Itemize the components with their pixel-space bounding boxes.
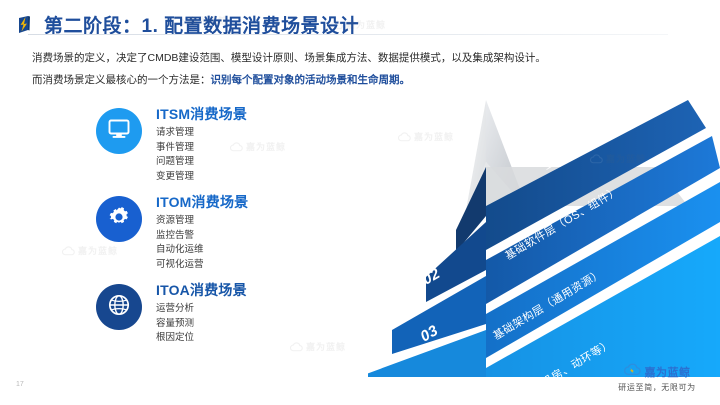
scenario-item: 变更管理 [156,170,247,185]
monitor-icon [107,118,131,145]
scenario-item: 资源管理 [156,214,248,229]
scenario-icon-circle-itoa [96,284,142,330]
scenario-title-itsm: ITSM消费场景 [156,104,247,124]
gear-icon [107,205,131,234]
scenario-block-itom: ITOM消费场景 资源管理 监控告警 自动化运维 可视化运营 [96,192,366,280]
scenario-item: 问题管理 [156,155,247,170]
scenario-item: 请求管理 [156,126,247,141]
scenario-block-itoa: ITOA消费场景 运营分析 容量预测 根因定位 [96,280,366,360]
scenario-text-itoa: ITOA消费场景 运营分析 容量预测 根因定位 [156,280,247,346]
scenario-text-itsm: ITSM消费场景 请求管理 事件管理 问题管理 变更管理 [156,104,247,184]
scenario-list: ITSM消费场景 请求管理 事件管理 问题管理 变更管理 ITOM消费场景 资源… [96,104,366,360]
footer-brand-name: 嘉为蓝鲸 [645,364,691,380]
globe-icon [107,293,131,322]
scenario-icon-circle-itom [96,196,142,242]
scenario-item: 可视化运营 [156,258,248,273]
scenario-icon-circle-itsm [96,108,142,154]
layered-pyramid-diagram: 01 业务应用层 02 基础软件层（OS、组件） 03 基础架构层（通用资源） … [368,92,720,377]
intro-line-2-prefix: 而消费场景定义最核心的一个方法是： [32,74,211,86]
scenario-item: 根因定位 [156,331,247,346]
slide-canvas: 第二阶段：1. 配置数据消费场景设计 消费场景的定义，决定了CMDB建设范围、模… [0,0,720,405]
footer-brand: 嘉为蓝鲸 研运至简，无限可为 [602,364,712,393]
scenario-text-itom: ITOM消费场景 资源管理 监控告警 自动化运维 可视化运营 [156,192,248,272]
pyramid-number-01: 01 [422,206,446,230]
scenario-block-itsm: ITSM消费场景 请求管理 事件管理 问题管理 变更管理 [96,104,366,192]
scenario-item: 容量预测 [156,317,247,332]
intro-line-2: 而消费场景定义最核心的一个方法是：识别每个配置对象的活动场景和生命周期。 [32,72,652,89]
intro-paragraphs: 消费场景的定义，决定了CMDB建设范围、模型设计原则、场景集成方法、数据提供模式… [32,50,652,94]
bolt-page-logo-icon [16,14,38,36]
scenario-item: 自动化运维 [156,243,248,258]
scenario-item: 监控告警 [156,229,248,244]
scenario-item: 事件管理 [156,141,247,156]
scenario-title-itom: ITOM消费场景 [156,192,248,212]
title-divider [28,34,668,35]
cloud-logo-icon [624,363,641,381]
scenario-title-itoa: ITOA消费场景 [156,280,247,300]
page-number: 17 [16,381,24,388]
intro-line-1: 消费场景的定义，决定了CMDB建设范围、模型设计原则、场景集成方法、数据提供模式… [32,50,652,67]
intro-line-2-highlight: 识别每个配置对象的活动场景和生命周期。 [211,74,411,86]
footer-tagline: 研运至简，无限可为 [602,382,712,393]
scenario-item: 运营分析 [156,302,247,317]
